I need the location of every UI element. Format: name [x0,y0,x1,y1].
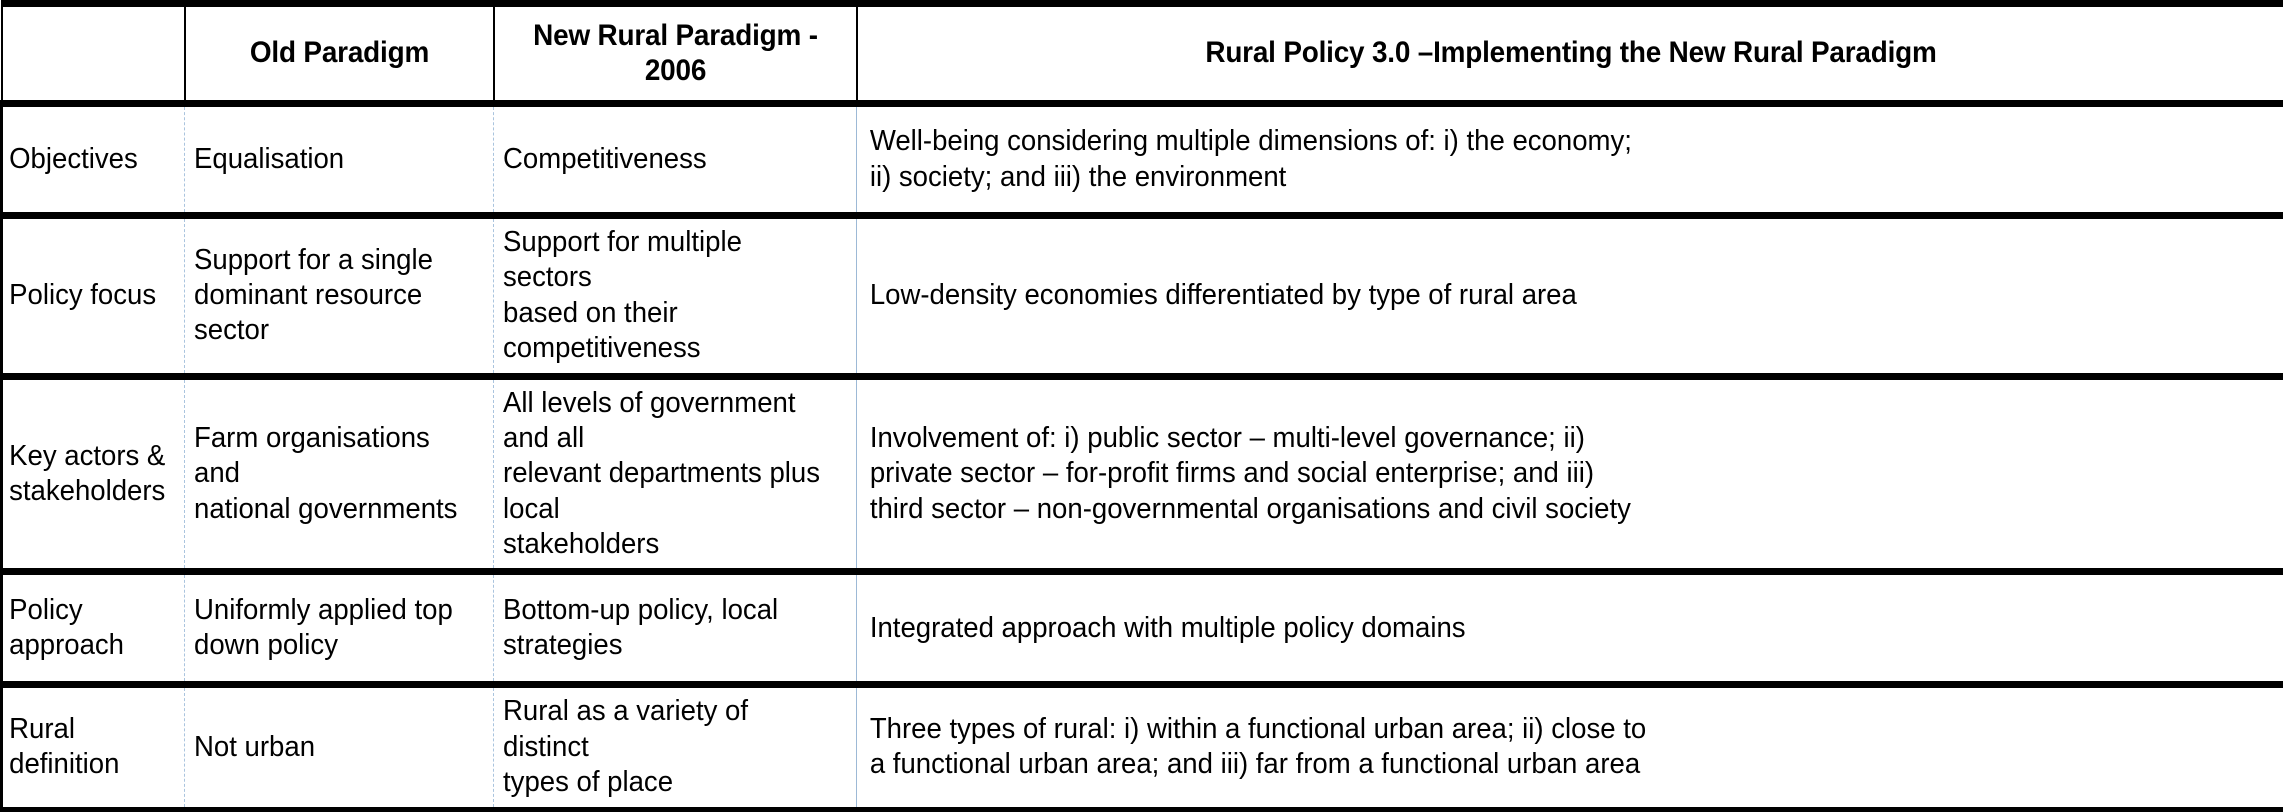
cell-policy-approach-new-rural-paradigm: Bottom-up policy, local strategies [494,572,839,685]
cell-text: Integrated approach with multiple policy… [869,611,2208,646]
row-label-key-actors-stakeholders: Key actors & stakeholders [2,376,176,572]
paradigm-comparison-table: Old Paradigm New Rural Paradigm - 2006 R… [0,0,2283,812]
cell-policy-approach-rural-policy-3: Integrated approach with multiple policy… [857,572,2214,685]
cell-text: Three types of rural: i) within a functi… [869,712,2208,783]
paradigm-comparison-table-container: Old Paradigm New Rural Paradigm - 2006 R… [0,0,2283,720]
cell-text: Rural as a variety of distinct types of … [503,694,830,800]
cell-text: Policy approach [9,593,171,664]
cell-text: All levels of government and all relevan… [503,386,830,563]
cell-text: Involvement of: i) public sector – multi… [869,421,2208,527]
column-header-rural-policy-3: Rural Policy 3.0 –Implementing the New R… [906,4,2234,104]
cell-text: Support for multiple sectors based on th… [503,225,830,367]
row-label-policy-approach: Policy approach [2,572,176,685]
column-header-old-paradigm: Old Paradigm [195,4,482,104]
table-row-policy-focus: Policy focus Support for a single domina… [2,216,2283,377]
cell-text: Competitiveness [503,142,830,177]
cell-text: Farm organisations and national governme… [194,421,470,527]
table-body: Objectives Equalisation Competitiveness … [2,104,2283,810]
cell-rural-definition-new-rural-paradigm: Rural as a variety of distinct types of … [494,685,839,809]
cell-key-actors-new-rural-paradigm: All levels of government and all relevan… [494,376,839,572]
table-row-policy-approach: Policy approach Uniformly applied top do… [2,572,2283,685]
cell-text: Low-density economies differentiated by … [869,278,2208,313]
table-row-key-actors-stakeholders: Key actors & stakeholders Farm organisat… [2,376,2283,572]
cell-key-actors-rural-policy-3: Involvement of: i) public sector – multi… [857,376,2214,572]
cell-text: Policy focus [9,278,171,313]
table-row-rural-definition: Rural definition Not urban Rural as a va… [2,685,2283,809]
cell-text: Objectives [9,142,171,177]
table-row-objectives: Objectives Equalisation Competitiveness … [2,104,2283,216]
cell-policy-focus-rural-policy-3: Low-density economies differentiated by … [857,216,2214,377]
table-header-row: Old Paradigm New Rural Paradigm - 2006 R… [2,4,2283,104]
cell-objectives-new-rural-paradigm: Competitiveness [494,104,839,216]
cell-key-actors-old-paradigm: Farm organisations and national governme… [185,376,479,572]
row-label-policy-focus: Policy focus [2,216,176,377]
cell-rural-definition-old-paradigm: Not urban [185,685,479,809]
cell-policy-focus-old-paradigm: Support for a single dominant resource s… [185,216,479,377]
row-label-rural-definition: Rural definition [2,685,176,809]
cell-objectives-rural-policy-3: Well-being considering multiple dimensio… [857,104,2214,216]
cell-text: Well-being considering multiple dimensio… [869,124,2208,195]
cell-text: Uniformly applied top down policy [194,593,470,664]
cell-policy-focus-new-rural-paradigm: Support for multiple sectors based on th… [494,216,839,377]
cell-text: Key actors & stakeholders [9,439,171,510]
cell-text: Rural definition [9,712,171,783]
cell-text: Support for a single dominant resource s… [194,243,470,349]
cell-objectives-old-paradigm: Equalisation [185,104,479,216]
cell-text: Bottom-up policy, local strategies [503,593,830,664]
table-header: Old Paradigm New Rural Paradigm - 2006 R… [2,4,2283,104]
cell-policy-approach-old-paradigm: Uniformly applied top down policy [185,572,479,685]
row-label-objectives: Objectives [2,104,176,216]
cell-text: Equalisation [194,142,470,177]
cell-rural-definition-rural-policy-3: Three types of rural: i) within a functi… [857,685,2214,809]
column-header-blank [8,4,178,104]
cell-text: Not urban [194,730,470,765]
column-header-new-rural-paradigm: New Rural Paradigm - 2006 [506,4,844,104]
